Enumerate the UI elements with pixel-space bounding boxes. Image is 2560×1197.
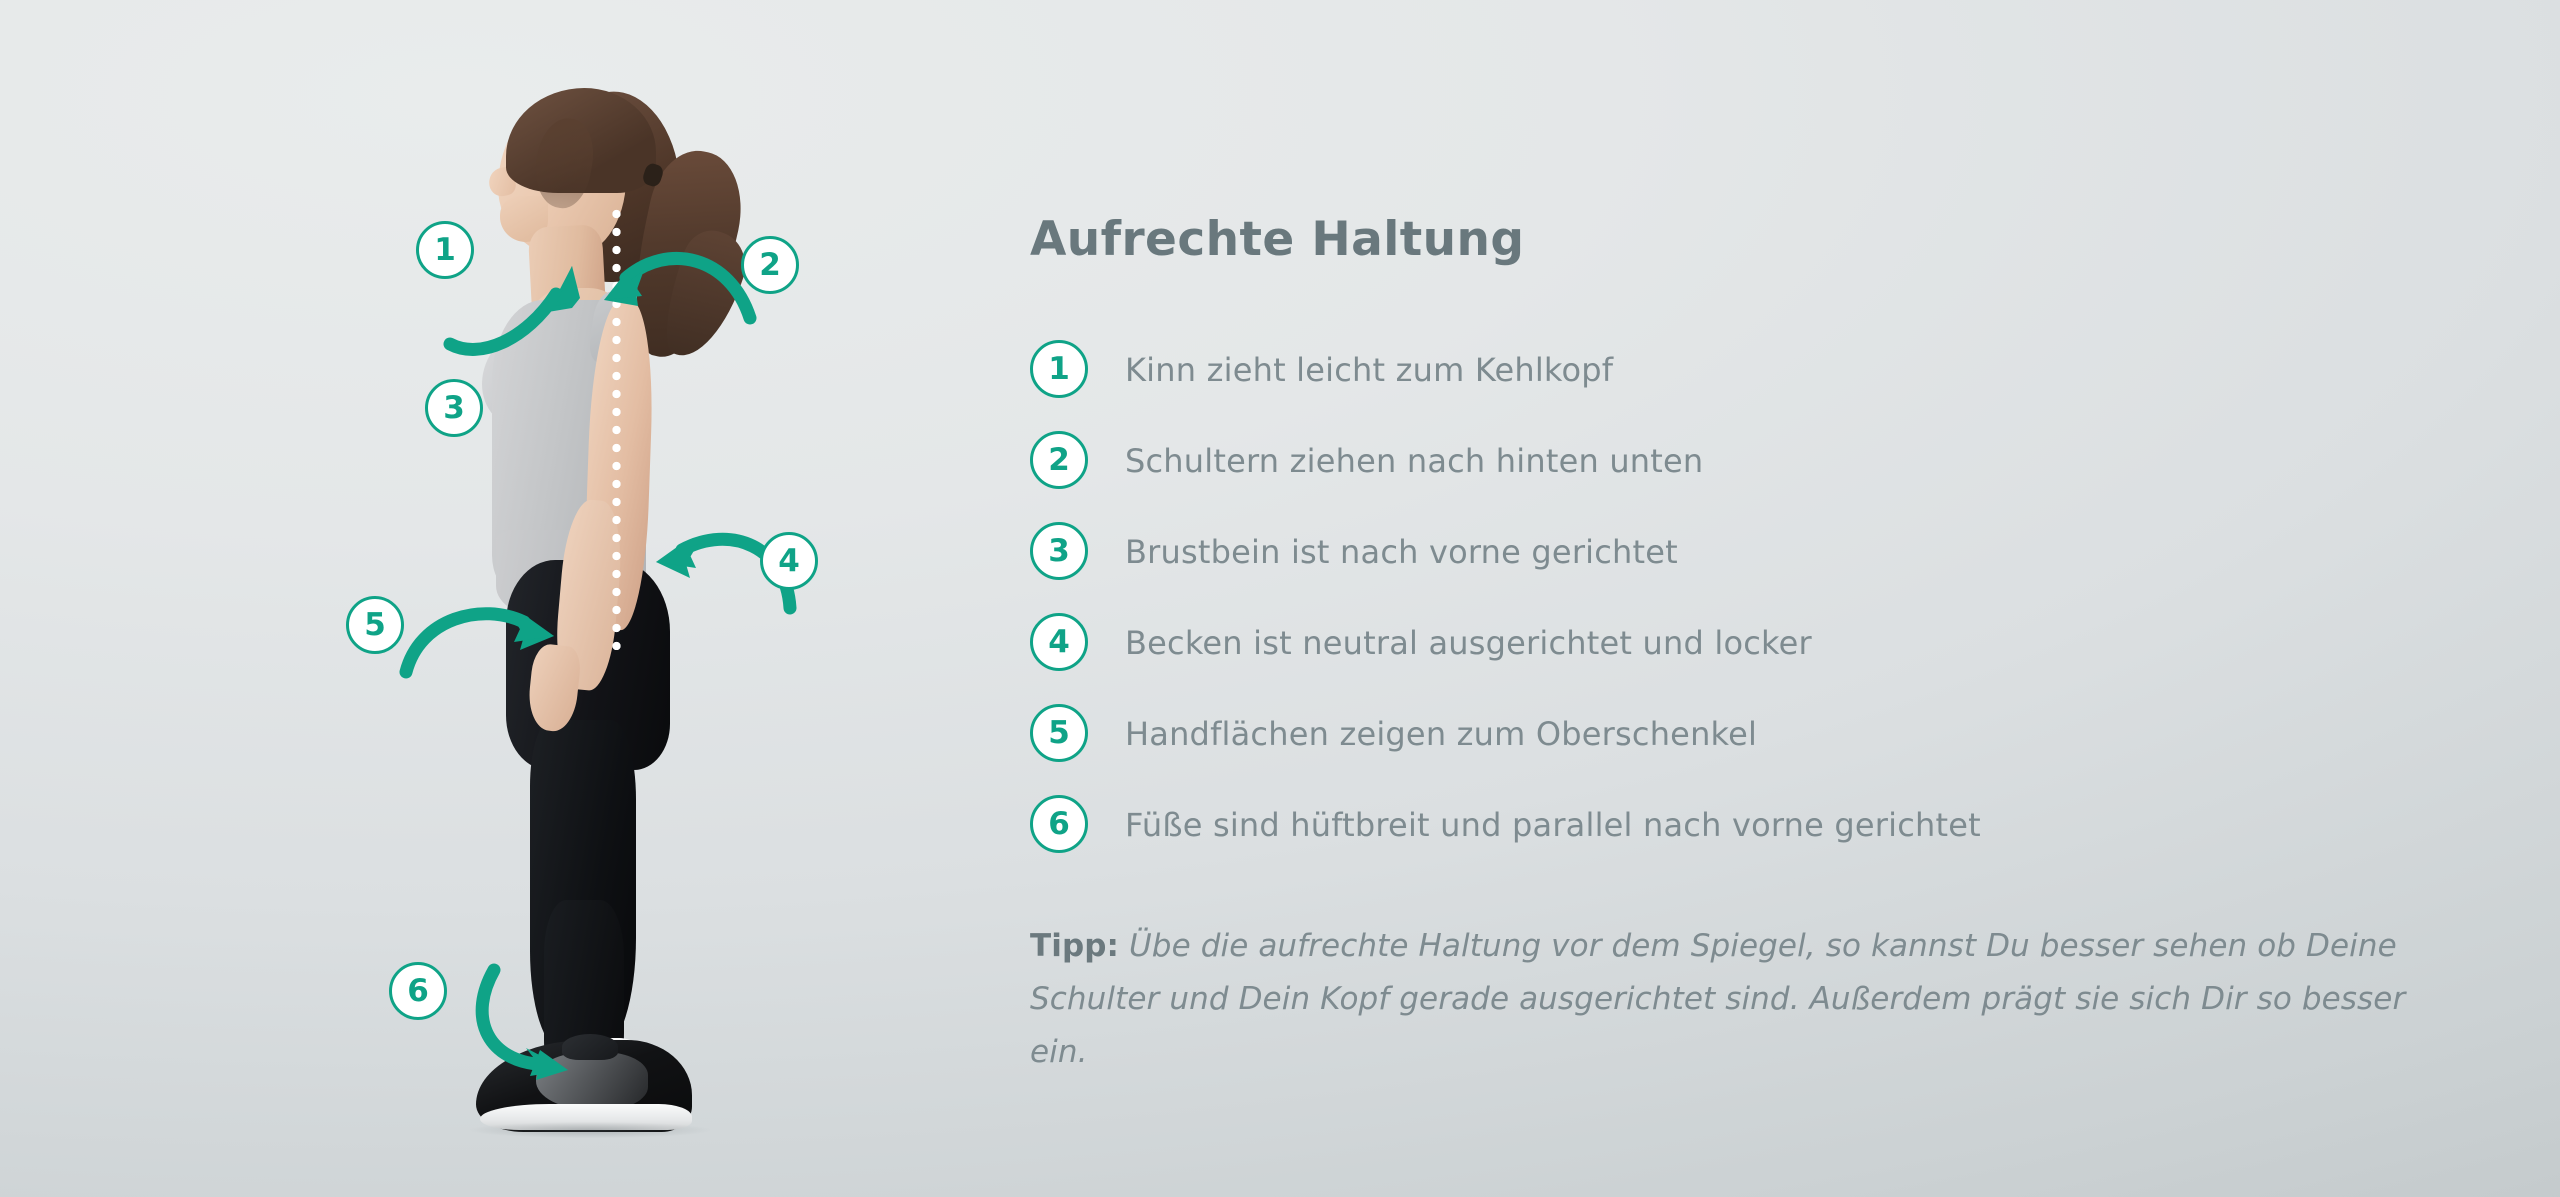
- list-item-text-6: Füße sind hüftbreit und parallel nach vo…: [1125, 806, 1981, 844]
- list-marker-6-label: 6: [1048, 809, 1070, 840]
- sneaker-laces: [562, 1034, 618, 1060]
- list-marker-1-label: 1: [1048, 354, 1070, 385]
- photo-marker-1-label: 1: [434, 235, 456, 266]
- list-item: 5 Handflächen zeigen zum Oberschenkel: [1030, 704, 2470, 795]
- photo-marker-5[interactable]: 5: [346, 596, 404, 654]
- list-marker-2-label: 2: [1048, 445, 1070, 476]
- list-item-text-1: Kinn zieht leicht zum Kehlkopf: [1125, 351, 1613, 389]
- list-marker-3: 3: [1030, 522, 1088, 580]
- instruction-list: 1 Kinn zieht leicht zum Kehlkopf 2 Schul…: [1030, 340, 2470, 886]
- tip-paragraph: Tipp: Übe die aufrechte Haltung vor dem …: [1030, 920, 2450, 1079]
- photo-marker-3-label: 3: [443, 393, 465, 424]
- list-item: 6 Füße sind hüftbreit und parallel nach …: [1030, 795, 2470, 886]
- photo-marker-3[interactable]: 3: [425, 379, 483, 437]
- list-marker-6: 6: [1030, 795, 1088, 853]
- tip-text: Übe die aufrechte Haltung vor dem Spiege…: [1030, 928, 2405, 1070]
- list-marker-2: 2: [1030, 431, 1088, 489]
- list-item-text-4: Becken ist neutral ausgerichtet und lock…: [1125, 624, 1812, 662]
- photo-marker-2[interactable]: 2: [741, 236, 799, 294]
- photo-marker-1[interactable]: 1: [416, 221, 474, 279]
- list-item: 4 Becken ist neutral ausgerichtet und lo…: [1030, 613, 2470, 704]
- list-item-text-5: Handflächen zeigen zum Oberschenkel: [1125, 715, 1757, 753]
- posture-photo: 1 2 3 4 5 6: [0, 0, 1010, 1197]
- list-marker-5: 5: [1030, 704, 1088, 762]
- list-marker-4-label: 4: [1048, 627, 1070, 658]
- photo-marker-4-label: 4: [778, 546, 800, 577]
- photo-marker-2-label: 2: [759, 250, 781, 281]
- list-item: 3 Brustbein ist nach vorne gerichtet: [1030, 522, 2470, 613]
- photo-marker-6[interactable]: 6: [389, 962, 447, 1020]
- floor-shadow: [470, 1122, 710, 1138]
- photo-marker-4[interactable]: 4: [760, 532, 818, 590]
- list-item-text-3: Brustbein ist nach vorne gerichtet: [1125, 533, 1678, 571]
- list-marker-1: 1: [1030, 340, 1088, 398]
- photo-marker-5-label: 5: [364, 610, 386, 641]
- content-panel: Aufrechte Haltung 1 Kinn zieht leicht zu…: [1030, 0, 2560, 1197]
- sneaker-pattern: [536, 1052, 648, 1110]
- tip-label: Tipp:: [1030, 928, 1119, 964]
- list-item-text-2: Schultern ziehen nach hinten unten: [1125, 442, 1703, 480]
- list-item: 1 Kinn zieht leicht zum Kehlkopf: [1030, 340, 2470, 431]
- list-item: 2 Schultern ziehen nach hinten unten: [1030, 431, 2470, 522]
- infographic-canvas: 1 2 3 4 5 6 Aufrechte Haltung 1 Kinn zie…: [0, 0, 2560, 1197]
- page-title: Aufrechte Haltung: [1030, 212, 1524, 267]
- photo-marker-6-label: 6: [407, 976, 429, 1007]
- plumb-line-icon: [612, 205, 621, 650]
- list-marker-5-label: 5: [1048, 718, 1070, 749]
- list-marker-4: 4: [1030, 613, 1088, 671]
- list-marker-3-label: 3: [1048, 536, 1070, 567]
